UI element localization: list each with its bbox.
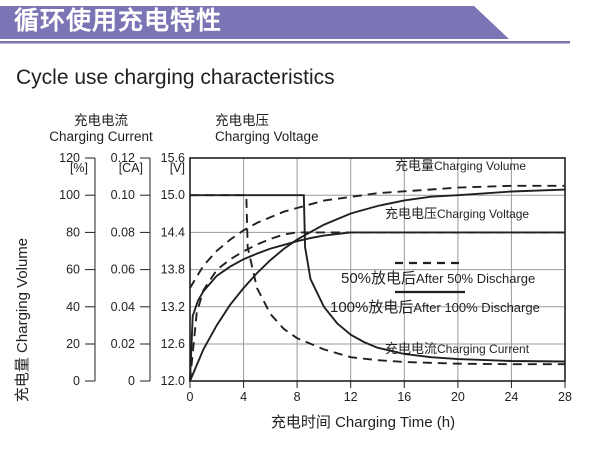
volume-tick-label: 80 (66, 225, 80, 239)
current-tick-label: 0.08 (111, 225, 135, 239)
volume-axis-title-cn: 充电量 (14, 357, 31, 402)
annotation-charging-volume-en: Charging Volume (434, 159, 526, 173)
current-tick-label: 0.12 (111, 151, 135, 165)
volume-tick-label: 120 (59, 151, 80, 165)
voltage-tick-label: 12.6 (161, 337, 185, 351)
x-tick-label: 20 (451, 390, 465, 404)
volume-tick-label: 40 (66, 300, 80, 314)
annotation-charging-current: 充电电流Charging Current (385, 341, 530, 356)
x-tick-label: 28 (558, 390, 572, 404)
x-axis-title: 充电时间 Charging Time (h) (271, 414, 455, 431)
current-tick-label: 0.02 (111, 337, 135, 351)
banner-underline (0, 41, 570, 44)
axis-headings: 充电电流 Charging Current 充电电压 Charging Volt… (49, 113, 318, 144)
annotation-after-100-discharge-en: After 100% Discharge (413, 300, 539, 315)
subtitle: Cycle use charging characteristics (16, 66, 335, 90)
voltage-tick-label: 15.0 (161, 188, 185, 202)
annotation-after-50-discharge: 50%放电后After 50% Discharge (341, 270, 535, 287)
chart: 充电电流 Charging Current 充电电压 Charging Volt… (0, 100, 600, 451)
current-tick-label: 0.10 (111, 188, 135, 202)
volume-axis-title-en: Charging Volume (14, 238, 31, 353)
current-axis-title-cn: 充电电流 (74, 113, 128, 128)
volume-axis: [%] 120 100 80 60 40 20 0 (59, 151, 95, 388)
x-tick-label: 24 (504, 390, 518, 404)
volume-tick-label: 0 (73, 374, 80, 388)
annotation-after-50-discharge-en: After 50% Discharge (416, 271, 535, 286)
annotation-charging-voltage-en: Charging Voltage (437, 207, 529, 221)
annotation-charging-voltage-cn: 充电电压 (385, 206, 437, 221)
voltage-axis: [V] 15.6 15.0 14.4 13.8 13.2 12.6 12.0 (161, 151, 185, 388)
voltage-tick-label: 13.2 (161, 300, 185, 314)
annotation-after-100-discharge: 100%放电后After 100% Discharge (330, 299, 540, 316)
annotation-after-100-discharge-cn: 100%放电后 (330, 299, 413, 316)
voltage-tick-label: 13.8 (161, 263, 185, 277)
volume-tick-label: 60 (66, 263, 80, 277)
current-axis-title-en: Charging Current (49, 129, 153, 144)
voltage-tick-label: 15.6 (161, 151, 185, 165)
x-axis-title-en: Charging Time (h) (335, 414, 455, 431)
voltage-axis-title-en: Charging Voltage (215, 129, 319, 144)
annotation-charging-current-en: Charging Current (437, 342, 530, 356)
x-tick-label: 4 (240, 390, 247, 404)
annotation-charging-current-cn: 充电电流 (385, 341, 437, 356)
current-tick-label: 0 (128, 374, 135, 388)
page-title: 循环使用充电特性 (14, 9, 222, 34)
x-tick-label: 12 (344, 390, 358, 404)
chart-svg: 充电电流 Charging Current 充电电压 Charging Volt… (0, 100, 600, 451)
current-tick-label: 0.06 (111, 263, 135, 277)
x-tick-label: 8 (294, 390, 301, 404)
current-tick-label: 0.04 (111, 300, 135, 314)
annotation-charging-voltage: 充电电压Charging Voltage (385, 206, 529, 221)
volume-axis-title-text: 充电量 Charging Volume (14, 238, 31, 402)
volume-tick-label: 100 (59, 188, 80, 202)
voltage-axis-title-cn: 充电电压 (215, 113, 269, 128)
x-axis: 0 4 8 12 16 20 24 28 充电时间 Charging Time … (187, 381, 572, 431)
voltage-tick-label: 14.4 (161, 225, 185, 239)
voltage-tick-label: 12.0 (161, 374, 185, 388)
annotation-after-50-discharge-cn: 50%放电后 (341, 270, 416, 287)
x-tick-label: 0 (187, 390, 194, 404)
x-tick-label: 16 (397, 390, 411, 404)
volume-tick-label: 20 (66, 337, 80, 351)
current-axis: [CA] 0.12 0.10 0.08 0.06 0.04 0.02 0 (111, 151, 150, 388)
volume-axis-title: 充电量 Charging Volume (14, 238, 31, 402)
x-axis-title-cn: 充电时间 (271, 414, 331, 431)
annotation-charging-volume-cn: 充电量 (395, 158, 434, 173)
chart-annotations: 充电量Charging Volume 充电电压Charging Voltage … (330, 158, 540, 356)
annotation-charging-volume: 充电量Charging Volume (395, 158, 526, 173)
